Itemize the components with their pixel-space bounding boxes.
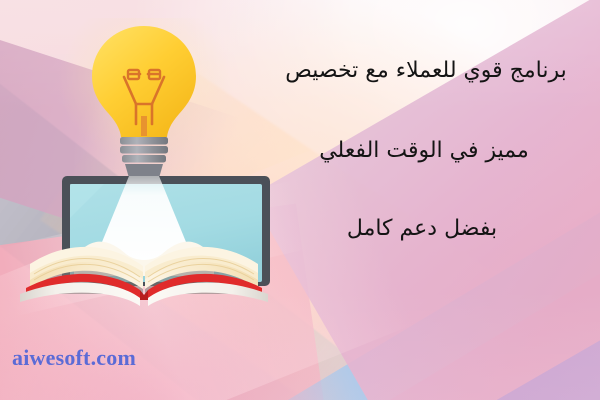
watermark-site-name: aiwesoft.com xyxy=(12,345,136,371)
bulb-screw-base xyxy=(120,137,168,178)
headline-block: برنامج قوي للعملاء مع تخصيص مميز في الوق… xyxy=(262,34,592,274)
bulb-filament-stem xyxy=(141,116,147,136)
promo-banner: برنامج قوي للعملاء مع تخصيص مميز في الوق… xyxy=(0,0,600,400)
book-spine xyxy=(140,290,148,300)
headline-line-3: بفضل دعم كامل xyxy=(262,216,582,242)
light-bulb xyxy=(92,26,196,178)
illustration-lightbulb-monitor-book xyxy=(12,18,288,308)
headline-line-1: برنامج قوي للعملاء مع تخصيص xyxy=(262,58,590,84)
headline-line-2: مميز في الوقت الفعلي xyxy=(262,138,586,164)
